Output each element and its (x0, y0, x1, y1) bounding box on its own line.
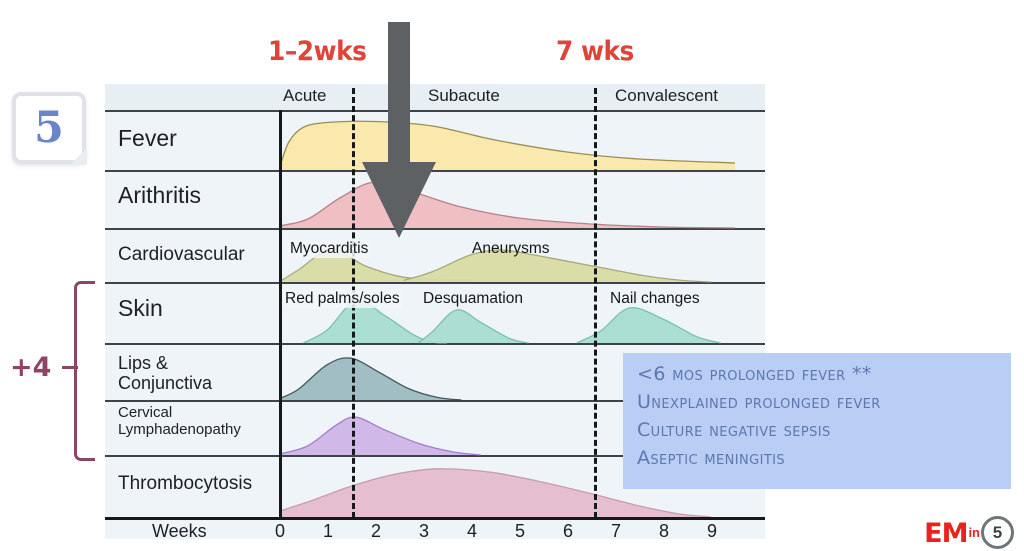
annotation-myocarditis: Myocarditis (288, 240, 370, 258)
down-arrow-icon (358, 22, 440, 240)
annotation-desquamation: Desquamation (421, 290, 525, 308)
week-tick-9: 9 (707, 521, 717, 542)
callout-line-2: Unexplained prolonged fever (637, 389, 1011, 417)
callout-line-3: Culture negative sepsis (637, 417, 1011, 445)
annotation-red-palms-soles: Red palms/soles (283, 290, 402, 308)
callout-line-4: Aseptic meningitis (637, 445, 1011, 473)
phase-header-acute: Acute (283, 86, 326, 106)
row-label-lips-conjunctiva: Lips & Conjunctiva (118, 353, 212, 393)
grouping-bracket (74, 281, 95, 461)
phase-header-convalescent: Convalescent (615, 86, 718, 106)
week-tick-5: 5 (515, 521, 525, 542)
logo-in: in (968, 525, 980, 540)
plus-four-label: +4 (10, 352, 51, 383)
calendar-icon: 5 (12, 92, 86, 164)
row-divider (105, 282, 765, 284)
week-tick-6: 6 (563, 521, 573, 542)
row-divider (105, 343, 765, 345)
x-axis (105, 517, 765, 520)
week-tick-4: 4 (467, 521, 477, 542)
logo-em: EM (924, 518, 967, 549)
kawasaki-timeline-figure: Acute Subacute Convalescent Fever Arithr… (0, 0, 1024, 551)
row-label-thrombocytosis: Thrombocytosis (118, 473, 252, 494)
week-tick-3: 3 (419, 521, 429, 542)
row-label-cervical-lymphadenopathy: Cervical Lymphadenopathy (118, 405, 241, 439)
callout-line-1: <6 mos prolonged fever ** (637, 361, 1011, 389)
logo-five: 5 (981, 516, 1014, 549)
week-tick-0: 0 (275, 521, 285, 542)
annotation-nail-changes: Nail changes (608, 290, 702, 308)
time-callout-1-2wks: 1–2wks (268, 36, 366, 67)
row-label-skin: Skin (118, 296, 163, 322)
annotation-aneurysms: Aneurysms (470, 240, 552, 258)
row-label-arithritis: Arithritis (118, 183, 201, 209)
y-axis (279, 110, 282, 519)
row-label-cardiovascular: Cardiovascular (118, 244, 245, 265)
week-tick-2: 2 (371, 521, 381, 542)
week-tick-1: 1 (323, 521, 333, 542)
calendar-number: 5 (12, 92, 86, 164)
row-label-fever: Fever (118, 126, 177, 152)
week-tick-8: 8 (659, 521, 669, 542)
em-in-5-logo: EM in 5 (924, 516, 1014, 549)
time-callout-7wks: 7 wks (556, 36, 634, 67)
grouping-bracket-tick (62, 366, 78, 369)
phase-boundary-subacute-convalescent (594, 88, 597, 518)
week-tick-7: 7 (611, 521, 621, 542)
axis-caption-weeks: Weeks (152, 521, 207, 542)
callout-box: <6 mos prolonged fever ** Unexplained pr… (623, 353, 1011, 489)
